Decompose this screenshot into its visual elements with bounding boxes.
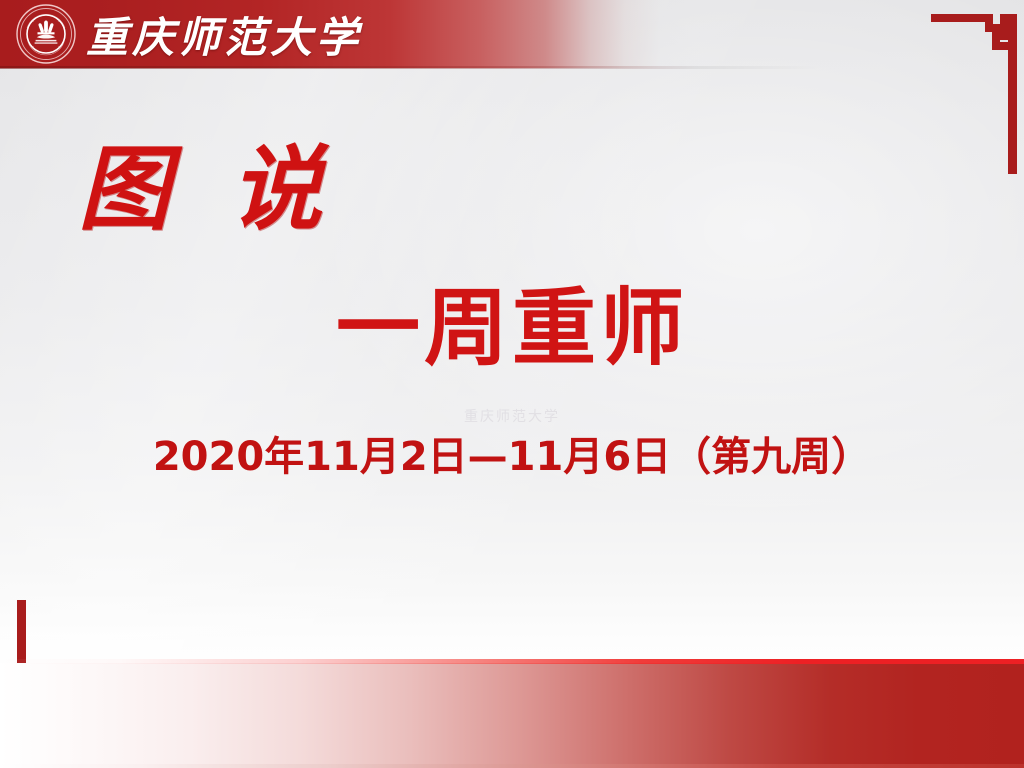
slide-title-main: 一周重师 bbox=[0, 286, 1024, 370]
footer-band bbox=[0, 663, 1024, 768]
footer-bottom-edge bbox=[0, 764, 1024, 768]
chinese-corner-ornament-top-right-icon bbox=[914, 0, 1024, 190]
footer-accent-line bbox=[0, 659, 1024, 664]
slide-date-range: 2020年11月2日—11月6日（第九周） bbox=[0, 434, 1024, 480]
university-wordmark: 重庆师范大学 bbox=[86, 5, 362, 63]
header-band-edge bbox=[0, 66, 1024, 69]
slide-background bbox=[0, 0, 1024, 768]
slide-title-brush: 图 说 bbox=[78, 143, 336, 235]
university-seal-icon bbox=[16, 4, 76, 64]
presentation-slide: 重庆师范大学 bbox=[0, 0, 1024, 768]
